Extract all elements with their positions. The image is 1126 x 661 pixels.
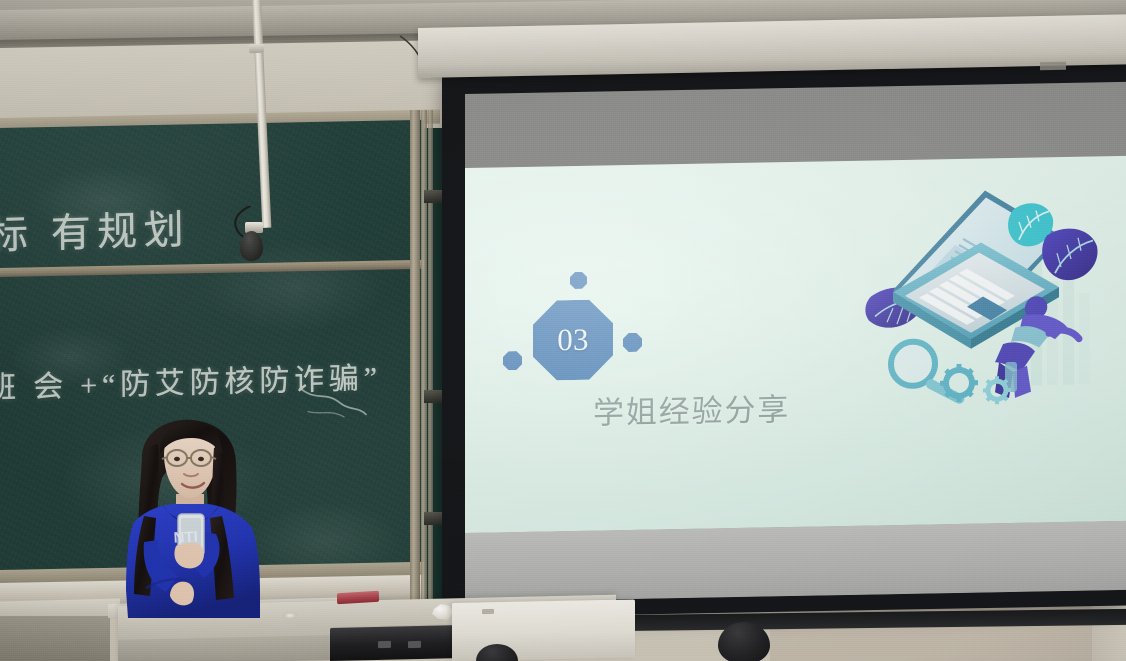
decorative-dot <box>503 351 522 370</box>
slide-title: 学姐经验分享 <box>593 384 790 433</box>
screen-unprojected-lower <box>465 521 1126 602</box>
housing-label <box>1040 62 1066 70</box>
leaf-indigo-right <box>1042 228 1097 280</box>
decorative-dot <box>570 272 587 289</box>
podium-left-support <box>0 616 110 661</box>
chalk-squiggle-icon <box>300 384 370 421</box>
microphone-head-icon <box>240 231 263 261</box>
projector-label <box>482 609 494 614</box>
laptop-port-icon <box>378 641 391 648</box>
section-number-badge: 03 <box>533 299 613 380</box>
board-clip <box>424 512 442 525</box>
board-clip <box>424 190 442 203</box>
section-number-text: 03 <box>557 322 589 359</box>
decorative-dot <box>623 333 642 352</box>
isometric-laptop-illustration <box>863 174 1113 419</box>
laptop-port-icon <box>408 641 421 648</box>
student-presenter: NTI <box>100 418 285 618</box>
classroom-photo: 标 有规划 班 会 +“防艾防核防诈骗” 03 学姐经验分享 <box>0 0 1126 661</box>
board-track-rail <box>410 110 420 615</box>
microphone-pole-joint <box>249 44 264 54</box>
projector-screen-surface: 03 学姐经验分享 <box>465 82 1126 602</box>
chalkboard-text-line1: 标 有规划 <box>0 197 190 261</box>
audience-head <box>718 622 770 661</box>
hoodie-graphic-text: NTI <box>173 528 198 546</box>
presentation-slide: 03 学姐经验分享 <box>465 156 1126 533</box>
board-track-rail <box>421 110 427 615</box>
board-clip <box>424 390 442 403</box>
board-track-rail <box>428 110 433 615</box>
